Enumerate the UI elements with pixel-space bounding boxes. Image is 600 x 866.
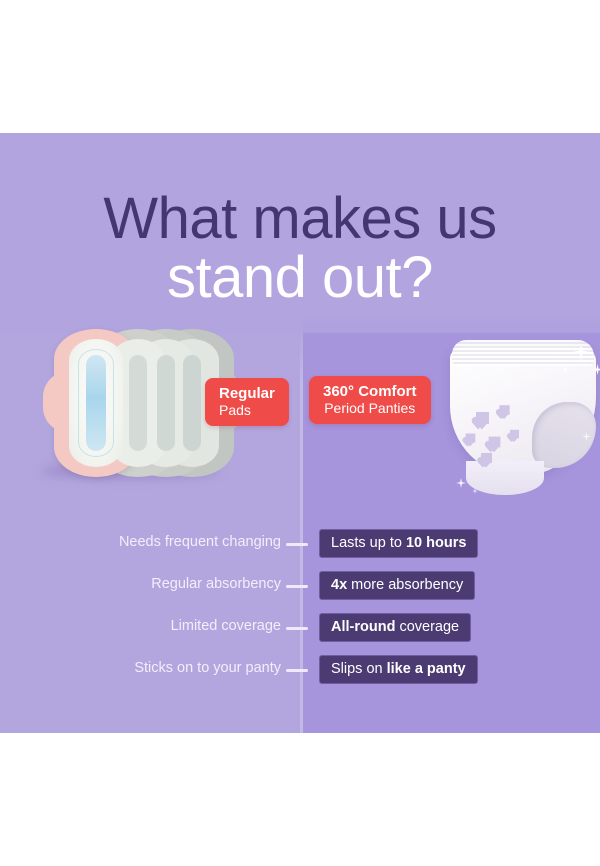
comparison-row: Sticks on to your panty Slips on like a … xyxy=(0,654,600,696)
title-line-1: What makes us xyxy=(0,189,600,248)
panty-crotch xyxy=(466,461,544,495)
panties-feature-badge: Lasts up to 10 hours xyxy=(319,529,478,558)
pad-channel xyxy=(157,355,175,451)
badge-subtitle: Period Panties xyxy=(323,400,417,416)
heart-icon xyxy=(510,430,519,438)
regular-pads-badge: Regular Pads xyxy=(205,378,289,426)
heart-icon xyxy=(499,405,509,415)
artwork-panel: What makes us stand out? xyxy=(0,133,600,733)
heart-icon xyxy=(466,434,476,443)
feature-suffix: coverage xyxy=(395,619,459,635)
panties-feature-badge: 4x more absorbency xyxy=(319,571,475,600)
badge-title: 360° Comfort xyxy=(323,383,417,400)
feature-prefix: Slips on xyxy=(331,661,387,677)
panties-feature-badge: All-round coverage xyxy=(319,613,471,642)
row-connector xyxy=(286,543,308,546)
feature-highlight: 10 hours xyxy=(406,535,466,551)
pad-channel xyxy=(183,355,201,451)
page-title: What makes us stand out? xyxy=(0,189,600,307)
comparison-list: Needs frequent changing Lasts up to 10 h… xyxy=(0,528,600,696)
feature-highlight: 4x xyxy=(331,577,347,593)
period-panty-image xyxy=(450,328,600,493)
pads-feature-label: Sticks on to your panty xyxy=(134,660,281,676)
heart-icon xyxy=(489,437,501,448)
heart-icon xyxy=(481,453,492,463)
feature-highlight: like a panty xyxy=(387,661,466,677)
badge-subtitle: Pads xyxy=(219,402,275,418)
pads-feature-label: Regular absorbency xyxy=(151,576,281,592)
promo-graphic: What makes us stand out? xyxy=(0,0,600,866)
sparkle-icon xyxy=(456,478,466,488)
comparison-row: Limited coverage All-round coverage xyxy=(0,612,600,654)
row-connector xyxy=(286,585,308,588)
panties-feature-badge: Slips on like a panty xyxy=(319,655,478,684)
comparison-row: Needs frequent changing Lasts up to 10 h… xyxy=(0,528,600,570)
row-connector xyxy=(286,627,308,630)
pads-feature-label: Limited coverage xyxy=(171,618,281,634)
feature-highlight: All-round xyxy=(331,619,395,635)
title-line-2: stand out? xyxy=(0,248,600,307)
pads-feature-label: Needs frequent changing xyxy=(119,534,281,550)
panty-waistband xyxy=(452,340,594,366)
row-connector xyxy=(286,669,308,672)
pad-channel xyxy=(129,355,147,451)
period-panties-badge: 360° Comfort Period Panties xyxy=(309,376,431,424)
comparison-row: Regular absorbency 4x more absorbency xyxy=(0,570,600,612)
feature-prefix: Lasts up to xyxy=(331,535,406,551)
pad-channel xyxy=(86,355,106,451)
badge-title: Regular xyxy=(219,385,275,402)
feature-suffix: more absorbency xyxy=(347,577,463,593)
heart-icon xyxy=(476,412,489,424)
